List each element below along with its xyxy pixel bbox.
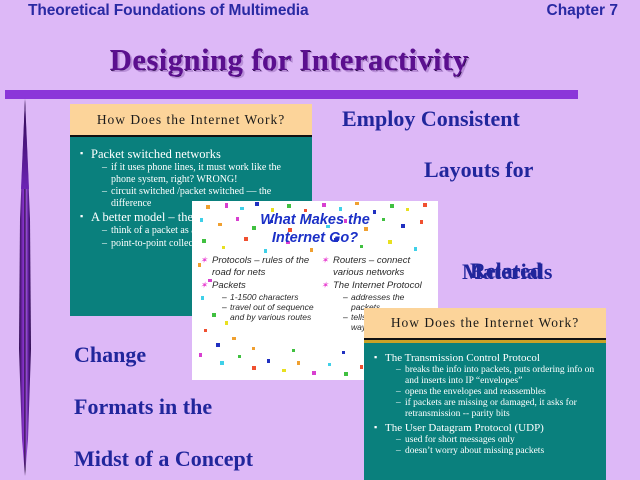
list-item: The Transmission Control Protocol breaks… (374, 351, 600, 420)
bullet-text: The Transmission Control Protocol (385, 351, 600, 365)
bullet-text: The User Datagram Protocol (UDP) (385, 421, 600, 435)
list-item: Packets 1-1500 characters travel out of … (200, 280, 315, 322)
mini-slide-title: What Makes the Internet Go? (192, 211, 438, 247)
sub-bullet-list: breaks the info into packets, puts order… (396, 365, 600, 420)
sub-list-item: 1-1500 characters (222, 292, 315, 302)
bullet-column-left: Protocols – rules of the road for nets P… (200, 255, 315, 334)
mini-slide-how-internet-works-2[interactable]: How Does the Internet Work? The Transmis… (364, 308, 606, 480)
callout-layouts-for: Layouts for (424, 157, 533, 183)
callout-materials: Materials (462, 259, 552, 285)
chapter-label: Chapter 7 (547, 2, 619, 20)
sub-list-item: travel out of sequence and by various ro… (222, 302, 315, 322)
sub-list-item: used for short messages only (396, 435, 600, 446)
course-title: Theoretical Foundations of Multimedia (28, 2, 308, 20)
mini-slide-title: How Does the Internet Work? (70, 104, 312, 137)
sub-list-item: breaks the info into packets, puts order… (396, 365, 600, 387)
mini-slide-body: The Transmission Control Protocol breaks… (364, 343, 606, 480)
sub-list-item: doesn’t worry about missing packets (396, 446, 600, 457)
callout-change: Change (74, 342, 146, 368)
list-item: The User Datagram Protocol (UDP) used fo… (374, 421, 600, 457)
sub-list-item: if it uses phone lines, it must work lik… (102, 162, 304, 185)
sub-list-item: opens the envelopes and reassembles (396, 387, 600, 398)
title-line-2: Internet Go? (272, 230, 358, 246)
list-item: Protocols – rules of the road for nets (200, 255, 315, 278)
list-item: Routers – connect various networks (321, 255, 436, 278)
bullet-text: Protocols – rules of the road for nets (212, 255, 315, 278)
sub-bullet-list: used for short messages only doesn’t wor… (396, 435, 600, 457)
title-divider (5, 90, 578, 99)
sub-bullet-list: 1-1500 characters travel out of sequence… (222, 292, 315, 322)
title-line-1: What Makes the (260, 212, 370, 228)
list-item: Packet switched networks if it uses phon… (80, 147, 304, 209)
callout-formats-in-the: Formats in the (74, 394, 212, 420)
slide-header: Theoretical Foundations of Multimedia Ch… (0, 2, 640, 28)
bullet-text: The Internet Protocol (333, 280, 436, 292)
sub-list-item: if packets are missing or damaged, it as… (396, 398, 600, 420)
callout-midst-of-a-concept: Midst of a Concept (74, 446, 253, 472)
bullet-text: Packet switched networks (91, 147, 304, 162)
bullet-list: Protocols – rules of the road for nets P… (200, 255, 315, 322)
bullet-list: The Transmission Control Protocol breaks… (374, 351, 600, 457)
callout-employ-consistent: Employ Consistent (342, 106, 520, 132)
pen-icon (12, 99, 38, 476)
bullet-text: Packets (212, 280, 315, 292)
mini-slide-title: How Does the Internet Work? (364, 308, 606, 340)
bullet-text: Routers – connect various networks (333, 255, 436, 278)
page-title: Designing for Interactivity (0, 42, 578, 78)
